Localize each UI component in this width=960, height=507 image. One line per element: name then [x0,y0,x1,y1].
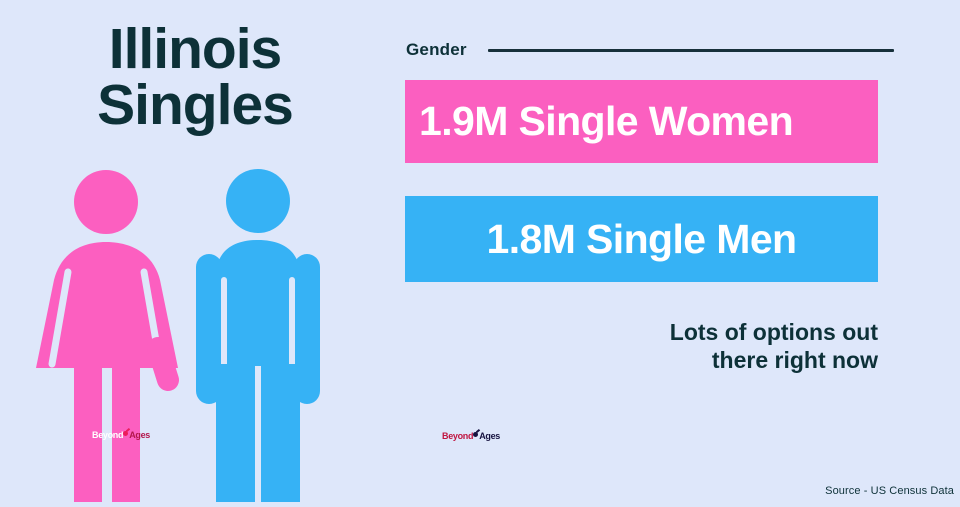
tagline-text: Lots of options out there right now [558,318,878,374]
beyondages-mark-icon [122,430,130,439]
left-panel: Illinois Singles [0,0,390,502]
watermark-ages-text: Ages [129,430,150,440]
female-figure: BeyondAges [32,168,192,507]
watermark-logo-female: BeyondAges [92,430,150,440]
watermark-beyond-text: Beyond [92,430,123,440]
male-silhouette-icon [196,168,361,502]
stat-bar-label-single-women: 1.9M Single Women [419,98,793,145]
tagline-line-1: Lots of options out [558,318,878,346]
gender-section-header: Gender [406,38,894,62]
stat-bar-label-single-men: 1.8M Single Men [487,216,797,263]
stat-bar-single-men: 1.8M Single Men [405,196,878,282]
figure-illustration-group: BeyondAges BeyondAge [0,168,390,502]
source-attribution: Source - US Census Data [825,485,954,497]
tagline-line-2: there right now [558,346,878,374]
gender-section-label: Gender [406,40,467,60]
infographic-canvas: Illinois Singles [0,0,960,502]
section-divider-rule [488,49,894,52]
page-title-line-1: Illinois [0,22,390,78]
male-figure: BeyondAges [196,168,361,507]
page-title-line-2: Singles [0,78,390,134]
right-panel: Gender 1.9M Single Women 1.8M Single Men… [390,0,960,502]
page-title: Illinois Singles [0,22,390,134]
female-silhouette-icon [32,168,192,502]
stat-bar-single-women: 1.9M Single Women [405,80,878,163]
